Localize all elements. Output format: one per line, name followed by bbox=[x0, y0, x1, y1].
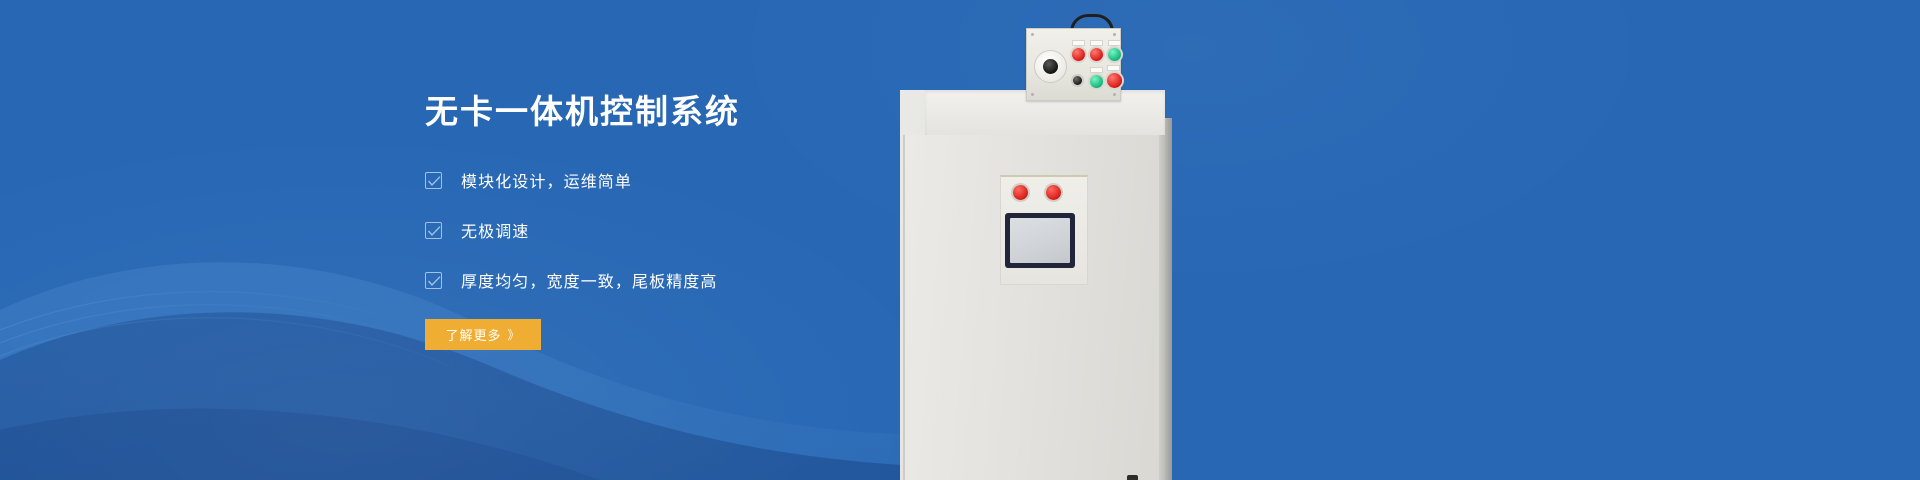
push-button-red-1[interactable] bbox=[1013, 185, 1028, 200]
cabinet-door-handle[interactable] bbox=[1127, 475, 1138, 480]
cabinet-right-side bbox=[1165, 118, 1172, 480]
button-label-tag bbox=[1107, 65, 1120, 71]
screen-glass bbox=[1010, 218, 1070, 263]
emergency-stop-button[interactable] bbox=[1107, 73, 1122, 88]
check-square-icon bbox=[425, 172, 442, 189]
screw-icon bbox=[1113, 93, 1116, 96]
button-label-tag bbox=[1090, 40, 1103, 46]
indicator-knob-black[interactable] bbox=[1073, 76, 1082, 85]
indicator-lamp-red-2[interactable] bbox=[1090, 48, 1103, 61]
button-label-tag bbox=[1072, 40, 1085, 46]
check-square-icon bbox=[425, 222, 442, 239]
hero-banner: 无卡一体机控制系统 模块化设计，运维简单 无极调速 bbox=[0, 0, 1920, 480]
top-control-panel bbox=[1026, 28, 1121, 101]
rotary-selector-knob[interactable] bbox=[1035, 51, 1066, 82]
learn-more-label: 了解更多 bbox=[445, 325, 501, 344]
touch-screen-display[interactable] bbox=[1005, 213, 1075, 268]
button-label-tag bbox=[1108, 40, 1121, 46]
indicator-lamp-green-1[interactable] bbox=[1108, 48, 1121, 61]
push-button-red-2[interactable] bbox=[1046, 185, 1061, 200]
check-square-icon bbox=[425, 272, 442, 289]
learn-more-button[interactable]: 了解更多 》 bbox=[425, 319, 541, 350]
control-cabinet-photo bbox=[900, 0, 1920, 480]
chevron-right-icon: 》 bbox=[508, 326, 521, 343]
main-cabinet bbox=[903, 135, 1165, 480]
feature-label: 无极调速 bbox=[461, 218, 529, 242]
screw-icon bbox=[1113, 33, 1116, 36]
feature-label: 厚度均匀，宽度一致，尾板精度高 bbox=[461, 268, 718, 292]
feature-label: 模块化设计，运维简单 bbox=[461, 168, 632, 192]
selector-knob-cap bbox=[1043, 59, 1058, 74]
screw-icon bbox=[1031, 93, 1034, 96]
indicator-lamp-red-1[interactable] bbox=[1072, 48, 1085, 61]
screw-icon bbox=[1031, 33, 1034, 36]
cabinet-door-edge bbox=[1159, 135, 1165, 480]
button-label-tag bbox=[1090, 67, 1103, 73]
indicator-lamp-green-2[interactable] bbox=[1090, 75, 1103, 88]
